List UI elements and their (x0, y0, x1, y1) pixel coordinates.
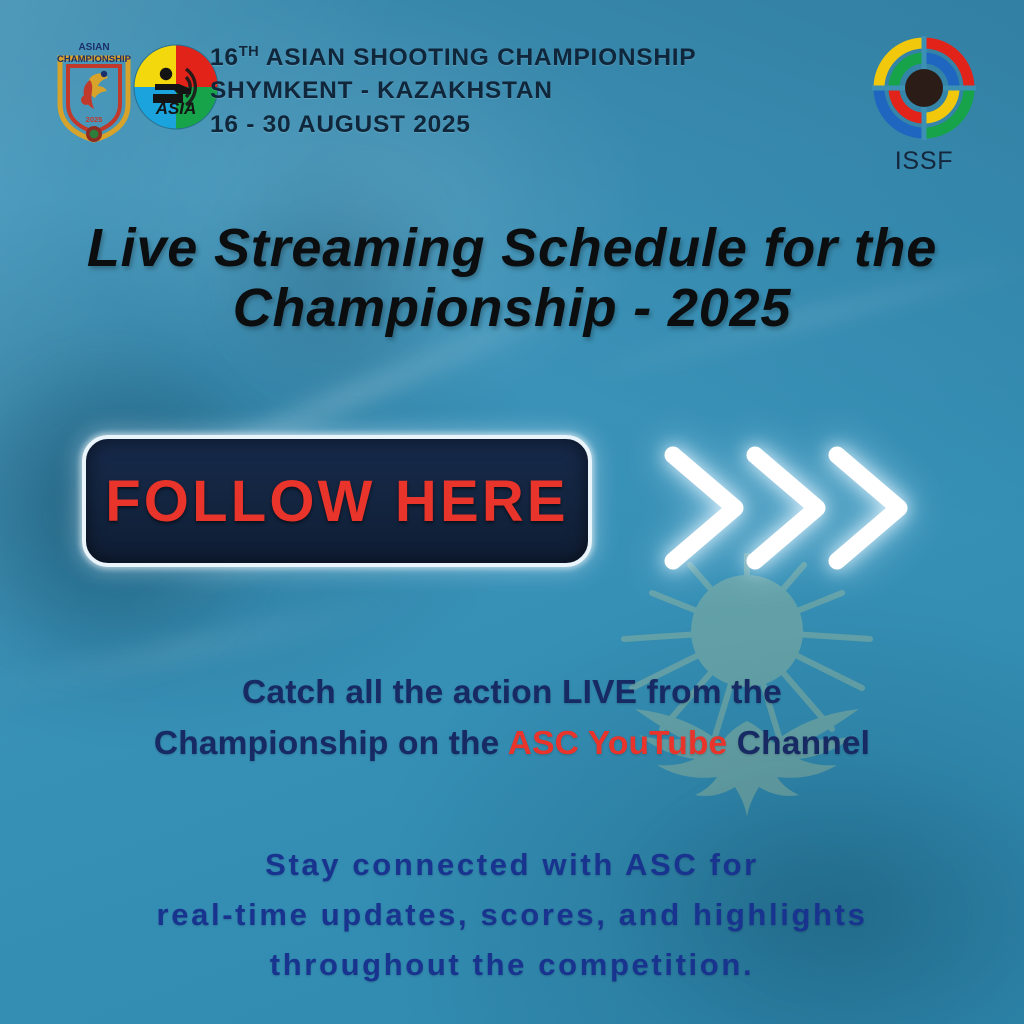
event-name: ASIAN SHOOTING CHAMPIONSHIP (266, 44, 697, 71)
body-copy-part-2: Championship on the (154, 725, 508, 762)
shield-logo-year: 2025 (86, 115, 103, 124)
event-title-line: 16TH ASIAN SHOOTING CHAMPIONSHIP (210, 41, 696, 74)
asc-asia-roundel-logo: ASIA (133, 44, 219, 130)
footer-copy-line-1: Stay connected with ASC for (36, 840, 988, 890)
event-location-line: SHYMKENT - KAZAKHSTAN (210, 74, 696, 107)
shield-logo-top-text: ASIAN (78, 42, 109, 53)
triple-chevron-right-icon (655, 433, 920, 583)
body-copy-line-2: Championship on the ASC YouTube Channel (60, 719, 964, 770)
body-copy-part-3: Channel (727, 725, 870, 762)
follow-here-label: FOLLOW HERE (105, 468, 569, 535)
event-dates-line: 16 - 30 AUGUST 2025 (210, 108, 696, 141)
body-copy-line-1: Catch all the action LIVE from the (60, 668, 964, 719)
footer-copy: Stay connected with ASC for real-time up… (0, 840, 1024, 991)
asian-championship-shield-logo: ASIAN CHAMPIONSHIP 2025 (52, 36, 136, 144)
asc-youtube-accent: ASC YouTube (508, 725, 728, 762)
cta-row: FOLLOW HERE (0, 425, 1024, 590)
issf-logo: ISSF (868, 32, 980, 176)
issf-label: ISSF (868, 147, 980, 176)
page-title: Live Streaming Schedule for the Champion… (0, 218, 1024, 339)
edition-number: 16 (210, 44, 239, 71)
poster-canvas: ASIAN CHAMPIONSHIP 2025 (0, 0, 1024, 1024)
footer-copy-line-2: real-time updates, scores, and highlight… (36, 890, 988, 940)
footer-copy-line-3: throughout the competition. (36, 940, 988, 990)
follow-here-button[interactable]: FOLLOW HERE (82, 435, 592, 567)
shield-logo-mid-text: CHAMPIONSHIP (57, 54, 132, 65)
poster-header: ASIAN CHAMPIONSHIP 2025 (0, 0, 1024, 170)
event-header-text: 16TH ASIAN SHOOTING CHAMPIONSHIP SHYMKEN… (210, 41, 696, 141)
page-title-line-1: Live Streaming Schedule for the (50, 218, 974, 278)
body-copy: Catch all the action LIVE from the Champ… (0, 668, 1024, 770)
page-title-line-2: Championship - 2025 (50, 278, 974, 338)
asc-roundel-label: ASIA (155, 99, 197, 118)
edition-ordinal: TH (239, 44, 259, 60)
